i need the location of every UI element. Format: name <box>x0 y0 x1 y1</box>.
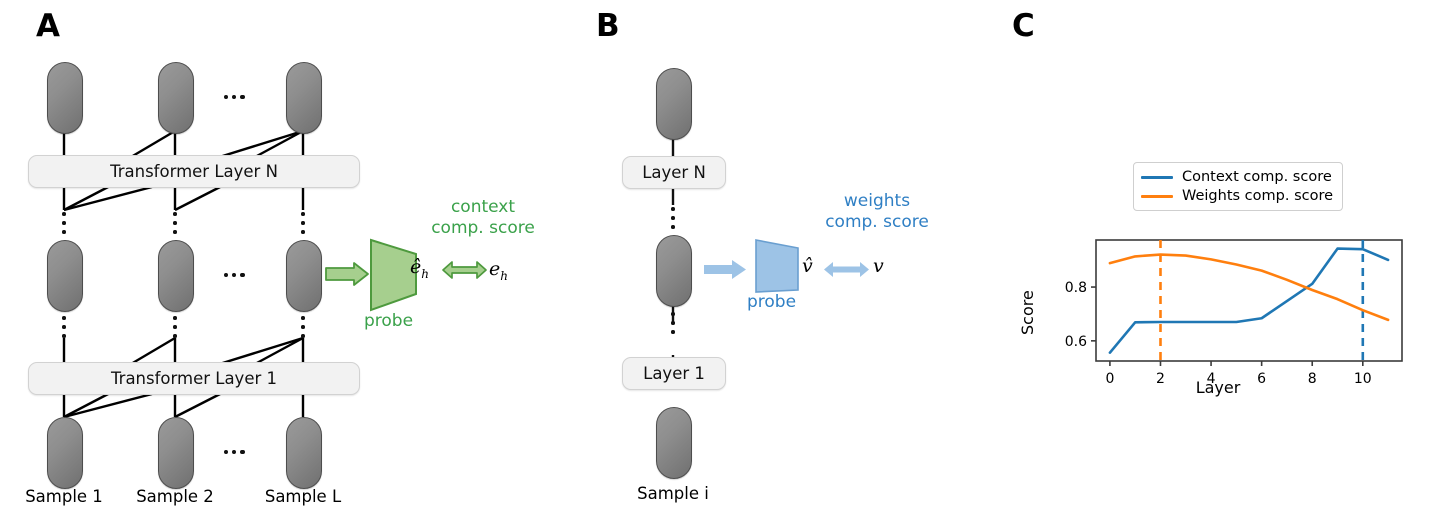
row-ellipsis <box>224 450 245 454</box>
chart-xlabel: Layer <box>1158 378 1278 397</box>
vertical-ellipsis <box>671 312 675 334</box>
sample-label-1: Sample 1 <box>4 487 124 506</box>
token-capsule <box>47 62 83 134</box>
transformer-layer-n-label: Transformer Layer N <box>110 162 278 181</box>
transformer-layer-1-bar: Transformer Layer 1 <box>28 362 360 395</box>
chart-plot: 02468100.60.8 <box>1000 0 1431 513</box>
token-capsule <box>286 417 322 489</box>
vertical-ellipsis <box>671 207 675 229</box>
token-capsule <box>158 417 194 489</box>
chart-frame <box>1096 240 1402 361</box>
token-capsule <box>47 240 83 312</box>
legend-label: Weights comp. score <box>1182 188 1333 204</box>
probe-label-b: probe <box>747 292 796 312</box>
comparison-double-arrow <box>443 262 486 278</box>
vertical-ellipsis <box>301 212 305 234</box>
vertical-ellipsis <box>301 316 305 338</box>
predicted-weight-symbol: v̂ <box>802 255 813 277</box>
ytick-label: 0.6 <box>1065 334 1087 350</box>
xtick-label: 10 <box>1354 371 1372 387</box>
token-capsule <box>656 235 692 307</box>
legend-swatch <box>1141 176 1173 179</box>
token-capsule <box>286 240 322 312</box>
vertical-ellipsis <box>62 316 66 338</box>
row-ellipsis <box>224 273 245 277</box>
true-embedding-symbol: eh <box>489 258 508 283</box>
panel-b-probe-graphics <box>580 0 1000 513</box>
token-capsule <box>286 62 322 134</box>
probe-shape <box>756 240 798 292</box>
series-line-0 <box>1110 249 1388 353</box>
legend-item-1: Weights comp. score <box>1141 188 1333 204</box>
token-capsule <box>158 62 194 134</box>
layer-n-bar: Layer N <box>622 156 726 189</box>
arrow-to-probe <box>326 263 368 285</box>
vertical-ellipsis <box>173 316 177 338</box>
legend-swatch <box>1141 195 1173 198</box>
series-line-1 <box>1110 255 1388 320</box>
legend-label: Context comp. score <box>1182 169 1332 185</box>
vertical-ellipsis <box>173 212 177 234</box>
true-weight-symbol: v <box>873 255 884 277</box>
layer-n-label: Layer N <box>642 163 706 182</box>
panel-a: A <box>0 0 580 513</box>
panel-a-label: A <box>36 8 60 44</box>
layer-1-label: Layer 1 <box>643 364 705 383</box>
weights-score-label-line1: weights <box>802 192 952 211</box>
panel-b: B Layer N Layer 1 Sample i <box>580 0 1000 513</box>
panel-c-label: C <box>1012 8 1035 44</box>
xtick-label: 0 <box>1105 371 1114 387</box>
token-capsule <box>158 240 194 312</box>
layer-1-bar: Layer 1 <box>622 357 726 390</box>
legend-item-0: Context comp. score <box>1141 169 1333 185</box>
predicted-embedding-symbol: êh <box>410 256 429 281</box>
sample-label-2: Sample 2 <box>115 487 235 506</box>
panel-b-connections <box>580 0 1000 513</box>
ytick-label: 0.8 <box>1065 280 1087 296</box>
probe-label-a: probe <box>364 311 413 331</box>
transformer-layer-1-label: Transformer Layer 1 <box>111 369 277 388</box>
chart-ylabel: Score <box>1018 290 1037 335</box>
transformer-layer-n-bar: Transformer Layer N <box>28 155 360 188</box>
vertical-ellipsis <box>62 212 66 234</box>
sample-label-l: Sample L <box>243 487 363 506</box>
context-score-label-line1: context <box>408 198 558 217</box>
row-ellipsis <box>224 95 245 99</box>
panel-c: C Context comp. score Weights comp. scor… <box>1000 0 1431 513</box>
token-capsule <box>656 407 692 479</box>
arrow-to-probe <box>704 260 746 279</box>
token-capsule <box>656 68 692 140</box>
token-capsule <box>47 417 83 489</box>
chart-legend: Context comp. score Weights comp. score <box>1133 162 1343 211</box>
sample-i-label: Sample i <box>613 484 733 503</box>
comparison-double-arrow <box>824 262 869 277</box>
context-score-label-line2: comp. score <box>408 219 558 238</box>
xtick-label: 8 <box>1308 371 1317 387</box>
weights-score-label-line2: comp. score <box>802 213 952 232</box>
panel-b-label: B <box>596 8 620 44</box>
